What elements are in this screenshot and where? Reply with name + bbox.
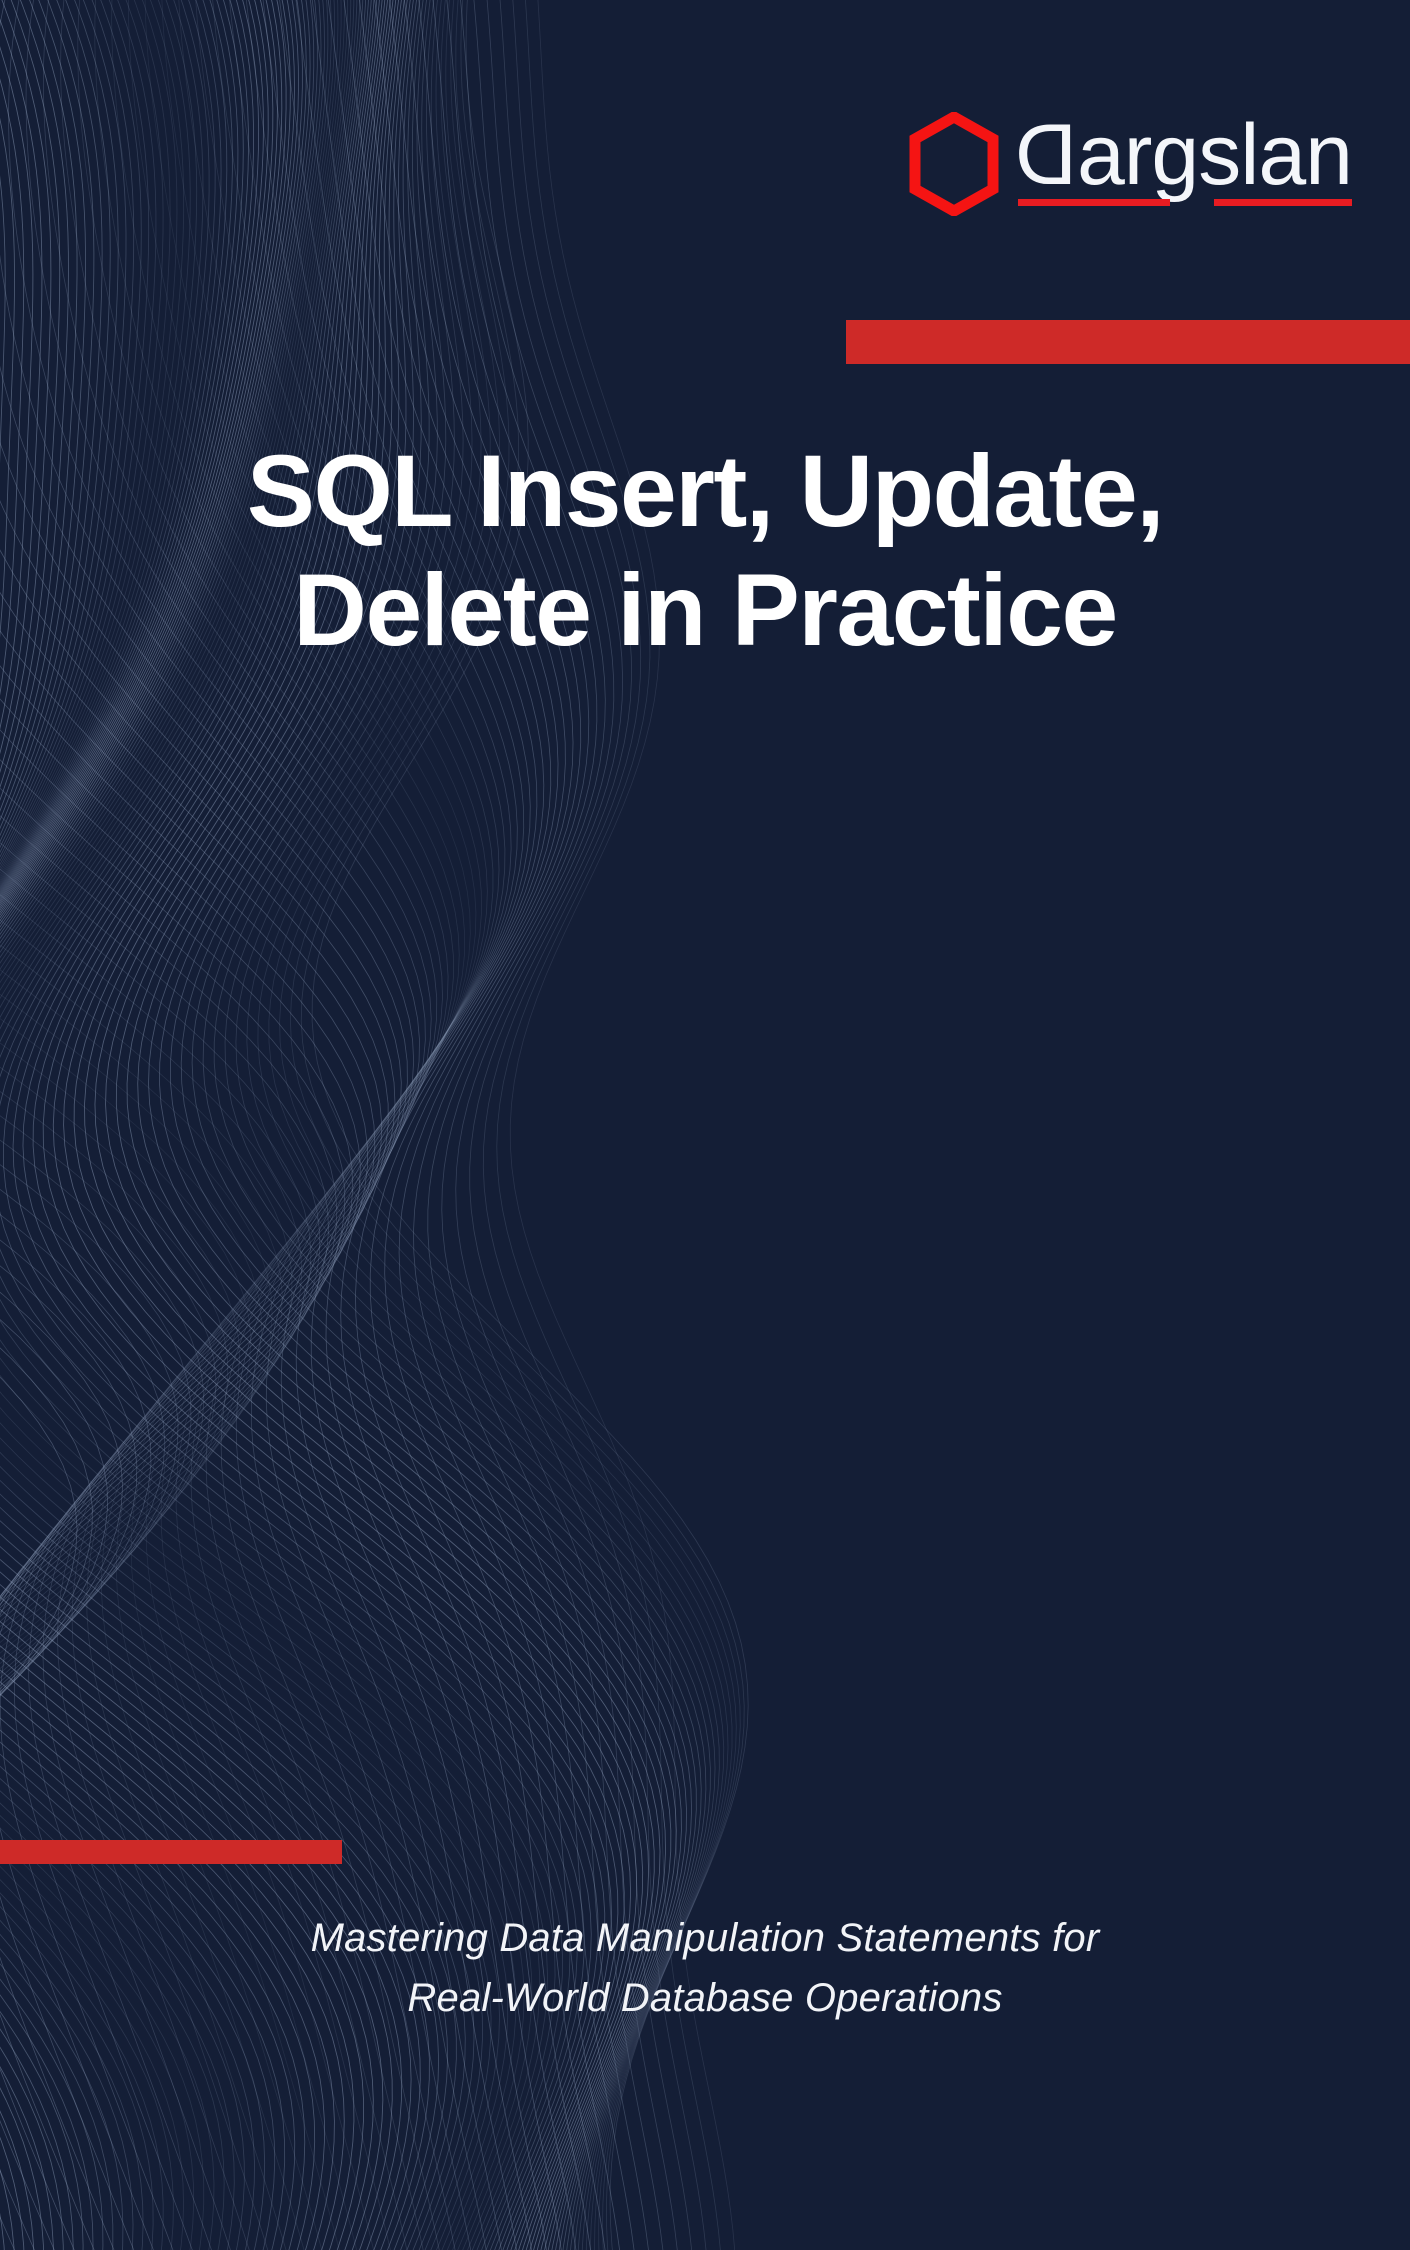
subtitle-block: Mastering Data Manipulation Statements f… xyxy=(0,1908,1410,2028)
book-title: SQL Insert, Update,Delete in Practice xyxy=(90,432,1320,671)
title-block: SQL Insert, Update,Delete in Practice xyxy=(0,432,1410,671)
brand-underline-segment-right xyxy=(1214,199,1352,206)
book-subtitle-line-1: Mastering Data Manipulation Statements f… xyxy=(311,1916,1100,1960)
book-title-line-2: Delete in Practice xyxy=(293,553,1116,667)
book-subtitle-line-2: Real-World Database Operations xyxy=(407,1976,1002,2020)
hexagon-icon xyxy=(908,112,1000,216)
bottom-accent-rule xyxy=(0,1840,342,1864)
brand-underline-gap xyxy=(1170,199,1214,206)
brand-underline-segment-left xyxy=(1018,199,1170,206)
brand-underline xyxy=(1018,199,1352,206)
brand-wordmark-initial: D xyxy=(1016,110,1077,200)
top-accent-rule xyxy=(846,320,1410,364)
book-subtitle: Mastering Data Manipulation Statements f… xyxy=(140,1908,1270,2028)
book-cover: Dargslan SQL Insert, Update,Delete in Pr… xyxy=(0,0,1410,2250)
book-title-line-1: SQL Insert, Update, xyxy=(247,434,1163,548)
brand-wordmark-wrap: Dargslan xyxy=(1016,108,1352,200)
brand-wordmark-rest: argslan xyxy=(1077,107,1352,203)
brand-logo: Dargslan xyxy=(908,108,1352,228)
brand-wordmark: Dargslan xyxy=(1016,110,1352,200)
